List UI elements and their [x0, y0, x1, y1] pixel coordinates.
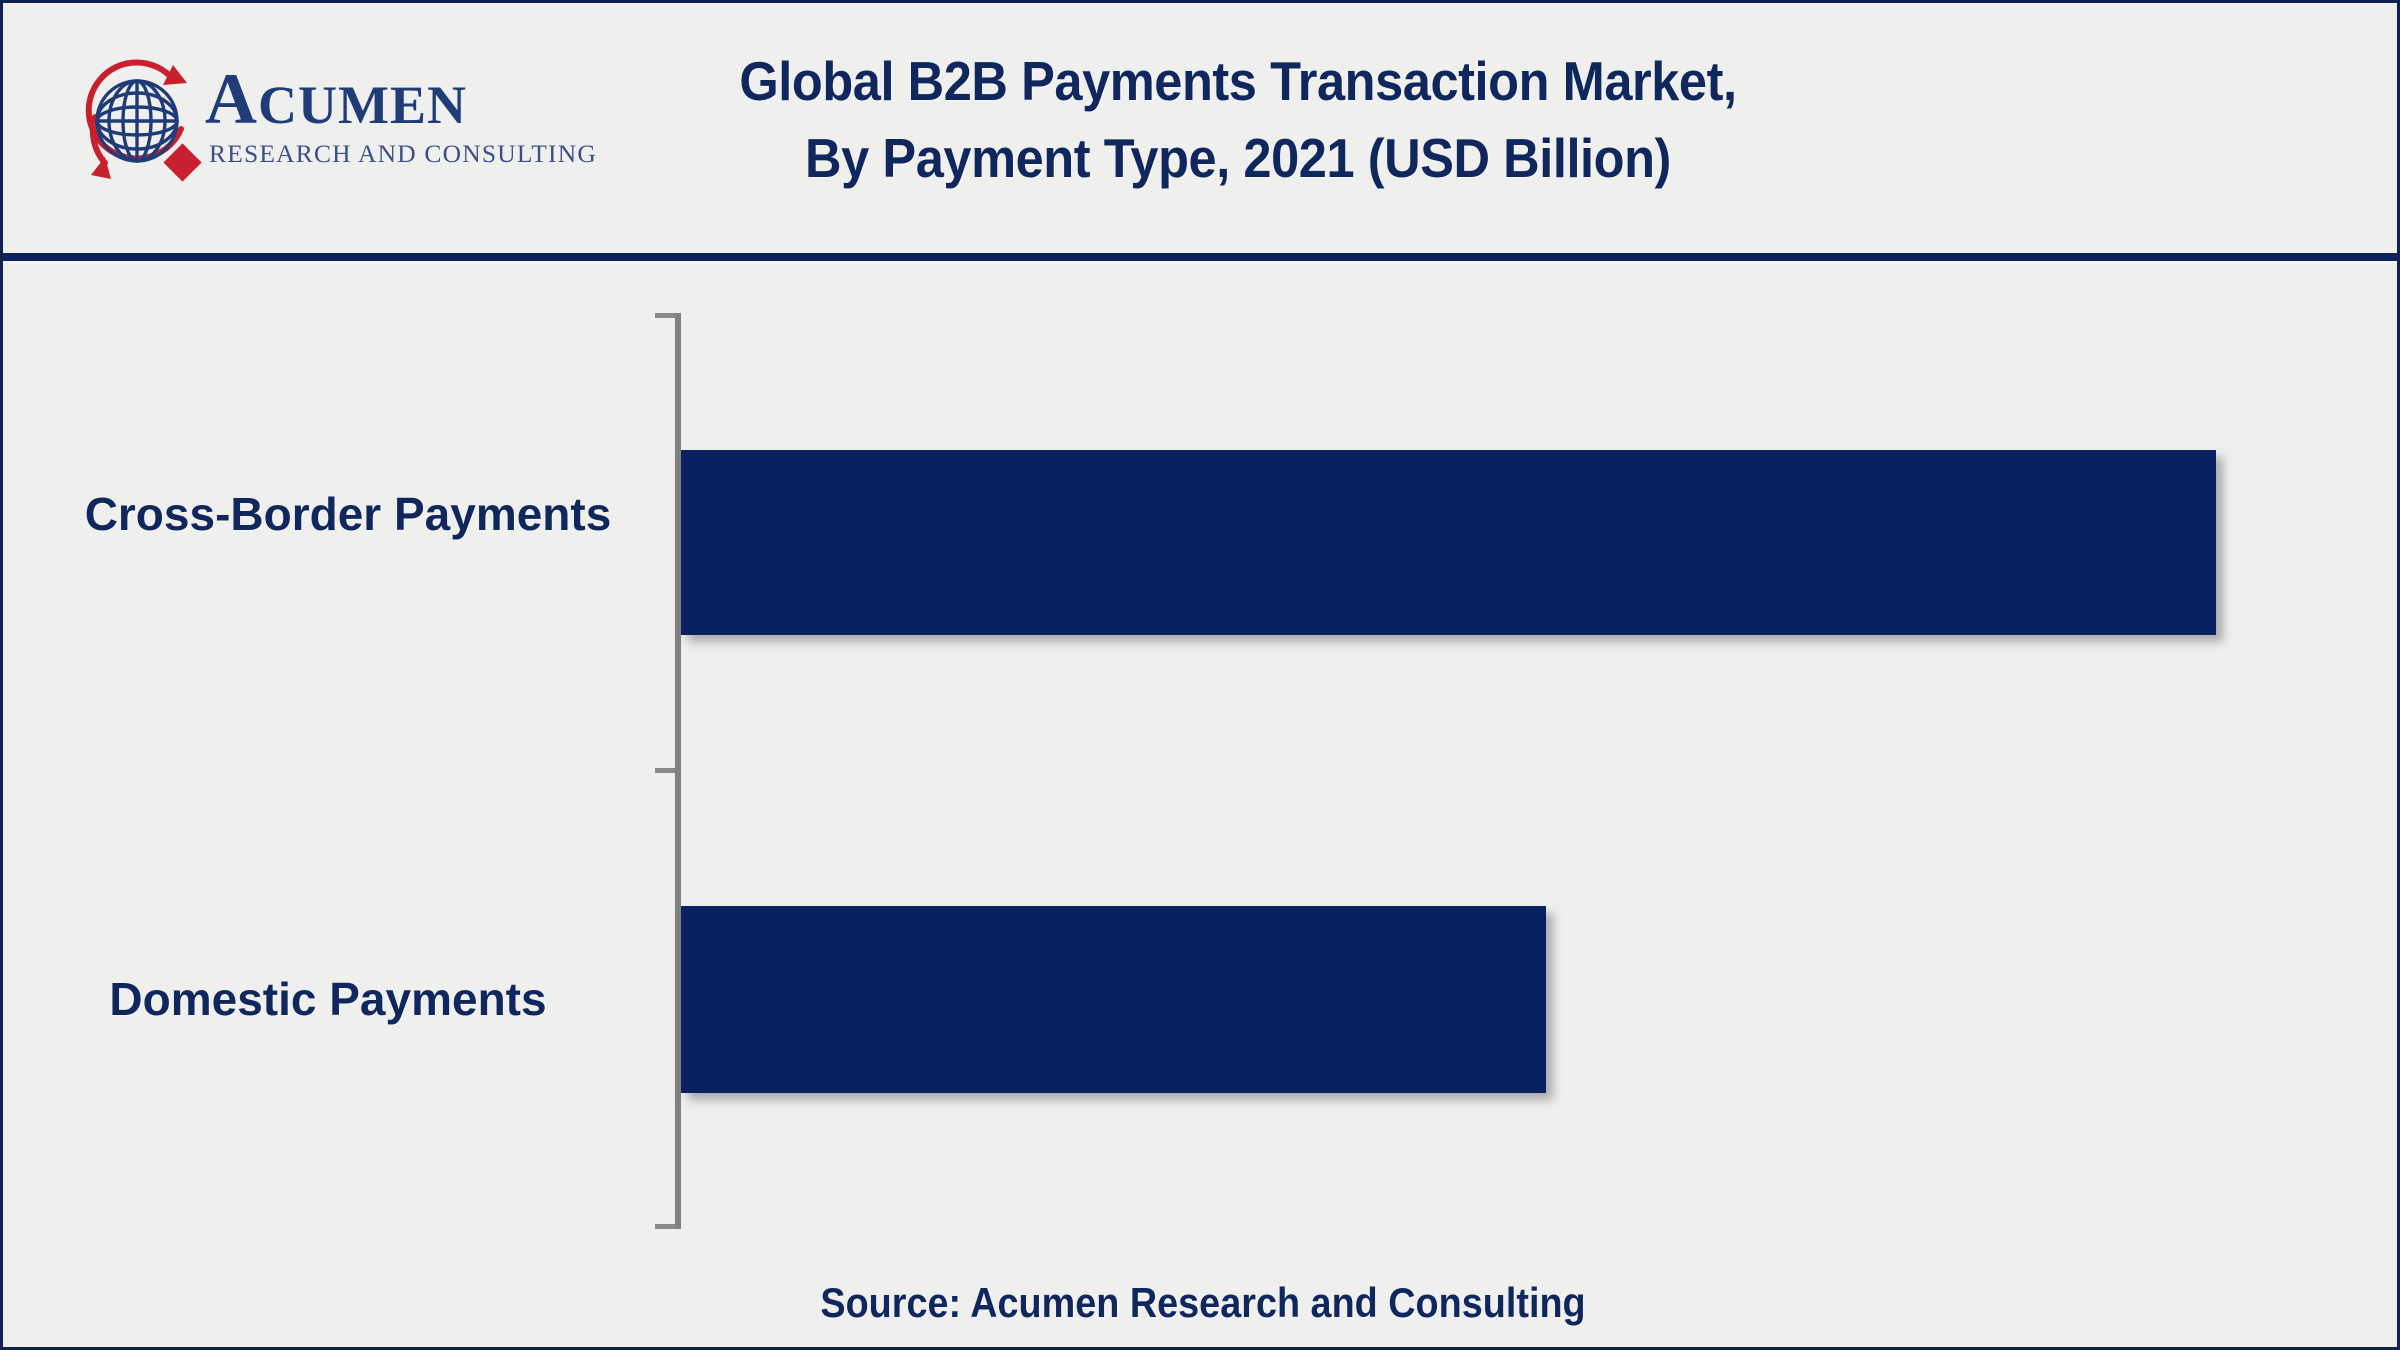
brand-wordmark: ACUMEN RESEARCH AND CONSULTING — [205, 61, 535, 169]
brand-logo: ACUMEN RESEARCH AND CONSULTING — [75, 51, 515, 201]
axis-tick-top — [655, 313, 675, 318]
chart-title-line-2: By Payment Type, 2021 (USD Billion) — [580, 120, 1896, 197]
chart-infographic: ACUMEN RESEARCH AND CONSULTING Global B2… — [0, 0, 2400, 1350]
source-note: Source: Acumen Research and Consulting — [123, 1279, 2283, 1327]
brand-tagline: RESEARCH AND CONSULTING — [205, 139, 535, 169]
bar-domestic-payments — [681, 906, 1546, 1093]
brand-name-lead: A — [205, 59, 258, 139]
header: ACUMEN RESEARCH AND CONSULTING Global B2… — [3, 3, 2400, 259]
bar-cross-border-payments — [681, 450, 2216, 635]
category-label-cross-border-payments: Cross-Border Payments — [63, 487, 633, 542]
brand-name: ACUMEN — [205, 61, 535, 143]
category-label-domestic-payments: Domestic Payments — [23, 972, 633, 1027]
globe-orbit-logo-icon — [75, 57, 207, 189]
axis-tick-middle — [655, 768, 675, 773]
chart-plot-area: Cross-Border Payments Domestic Payments … — [3, 259, 2400, 1350]
brand-name-rest: CUMEN — [258, 75, 467, 135]
axis-tick-bottom — [655, 1224, 675, 1229]
chart-title-line-1: Global B2B Payments Transaction Market, — [580, 43, 1896, 120]
chart-title: Global B2B Payments Transaction Market, … — [580, 43, 1896, 197]
